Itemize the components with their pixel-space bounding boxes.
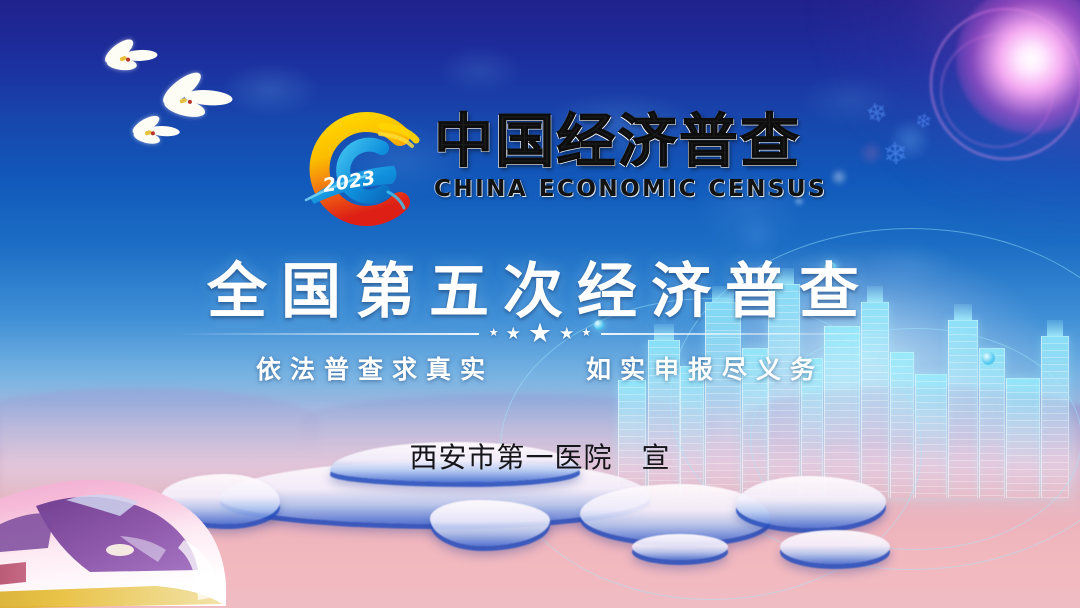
dove-icon-3: [126, 115, 185, 153]
star-icon-5: ★: [581, 328, 591, 339]
page-title: 全国第五次经济普查: [0, 243, 1080, 330]
census-poster: ❄ ❄ ❄: [0, 0, 1080, 608]
silhouette-dove-icon-2: ❄: [914, 111, 933, 133]
lens-flare-dot-2: [858, 140, 884, 166]
slogan-left: 依法普查求真实: [256, 350, 494, 386]
slogan-right: 如实申报尽义务: [586, 350, 824, 386]
star-icon-3: ★: [528, 320, 552, 347]
star-icon-4: ★: [559, 325, 574, 342]
silhouette-dove-icon-3: ❄: [882, 139, 909, 171]
star-group: ★ ★ ★ ★ ★: [489, 320, 591, 347]
divider-rule-left: [179, 333, 479, 335]
star-divider: ★ ★ ★ ★ ★: [0, 320, 1080, 347]
divider-rule-right: [601, 333, 901, 335]
star-icon-1: ★: [489, 328, 499, 339]
brand-block: 中国经济普查 CHINA ECONOMIC CENSUS: [434, 112, 834, 202]
census-logo: 2023: [296, 106, 422, 232]
brand-title-english: CHINA ECONOMIC CENSUS: [434, 176, 834, 202]
slogan-row: 依法普查求真实 如实申报尽义务: [0, 350, 1080, 386]
publisher-credit: 西安市第一医院 宣: [0, 436, 1080, 476]
brand-title-chinese: 中国经济普查: [434, 112, 842, 170]
star-icon-2: ★: [506, 325, 521, 342]
